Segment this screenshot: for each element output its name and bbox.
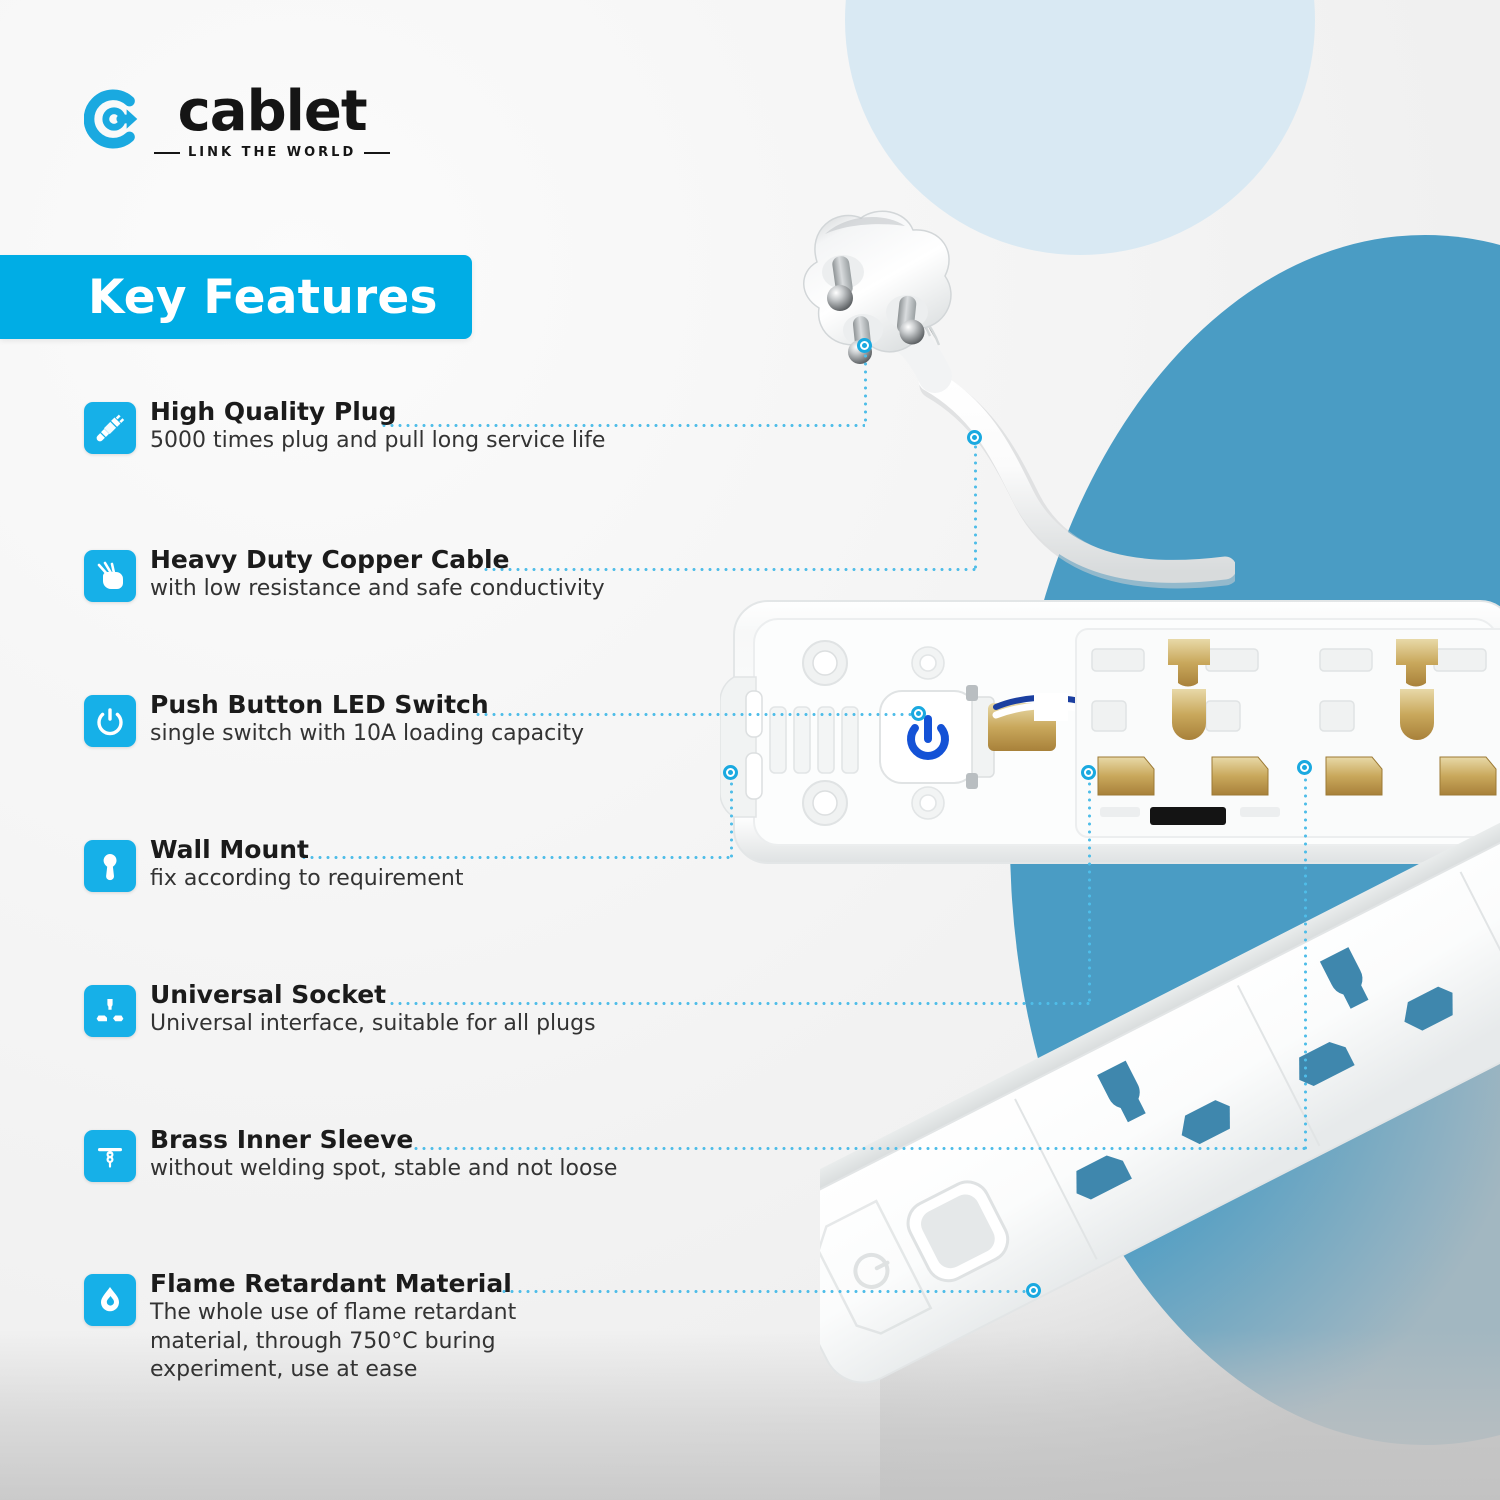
feature-title: High Quality Plug xyxy=(150,398,605,426)
infographic-canvas: cablet LINK THE WORLD Key Features xyxy=(0,0,1500,1500)
feature-title: Universal Socket xyxy=(150,981,596,1009)
feature-description: without welding spot, stable and not loo… xyxy=(150,1155,617,1184)
push-button-led-switch xyxy=(880,685,994,789)
feature-title: Push Button LED Switch xyxy=(150,691,584,719)
brand-logo: cablet LINK THE WORLD xyxy=(84,84,390,160)
flame-retardant-drop-icon xyxy=(84,1274,136,1326)
power-strip-front-illustration xyxy=(820,810,1500,1450)
key-features-banner: Key Features xyxy=(0,255,472,339)
key-features-title: Key Features xyxy=(88,270,438,325)
power-button-icon xyxy=(84,695,136,747)
feature-item-high-quality-plug[interactable]: High Quality Plug 5000 times plug and pu… xyxy=(84,398,605,456)
brand-tagline-row: LINK THE WORLD xyxy=(154,145,390,160)
socket-contacts xyxy=(1076,629,1500,837)
brand-name: cablet xyxy=(178,84,367,140)
feature-description: with low resistance and safe conductivit… xyxy=(150,575,605,604)
feature-description: single switch with 10A loading capacity xyxy=(150,720,584,749)
plug-and-cable-illustration xyxy=(755,200,1235,620)
feature-description: fix according to requirement xyxy=(150,865,463,894)
feature-item-brass-inner-sleeve[interactable]: Brass Inner Sleeve without welding spot,… xyxy=(84,1126,617,1184)
feature-item-heavy-duty-copper-cable[interactable]: Heavy Duty Copper Cable with low resista… xyxy=(84,546,605,604)
feature-description: The whole use of flame retardant materia… xyxy=(150,1299,540,1385)
wall-mount-keyhole-icon xyxy=(84,840,136,892)
cablet-c-arrow-logo-icon xyxy=(84,88,146,150)
feature-description: Universal interface, suitable for all pl… xyxy=(150,1010,596,1039)
brass-inner-sleeve-icon xyxy=(84,1130,136,1182)
plug-connector-icon xyxy=(84,402,136,454)
feature-item-push-button-led-switch[interactable]: Push Button LED Switch single switch wit… xyxy=(84,691,584,749)
plug-pin-neutral xyxy=(843,314,883,364)
copper-cable-strands-icon xyxy=(84,550,136,602)
tagline-rule-right xyxy=(364,152,390,154)
feature-item-flame-retardant-material[interactable]: Flame Retardant Material The whole use o… xyxy=(84,1270,540,1385)
feature-description: 5000 times plug and pull long service li… xyxy=(150,427,605,456)
brand-tagline: LINK THE WORLD xyxy=(188,145,356,160)
universal-socket-icon xyxy=(84,985,136,1037)
feature-title: Brass Inner Sleeve xyxy=(150,1126,617,1154)
feature-title: Wall Mount xyxy=(150,836,463,864)
feature-title: Flame Retardant Material xyxy=(150,1270,540,1298)
feature-item-universal-socket[interactable]: Universal Socket Universal interface, su… xyxy=(84,981,596,1039)
tagline-rule-left xyxy=(154,152,180,154)
feature-item-wall-mount[interactable]: Wall Mount fix according to requirement xyxy=(84,836,463,894)
feature-title: Heavy Duty Copper Cable xyxy=(150,546,605,574)
